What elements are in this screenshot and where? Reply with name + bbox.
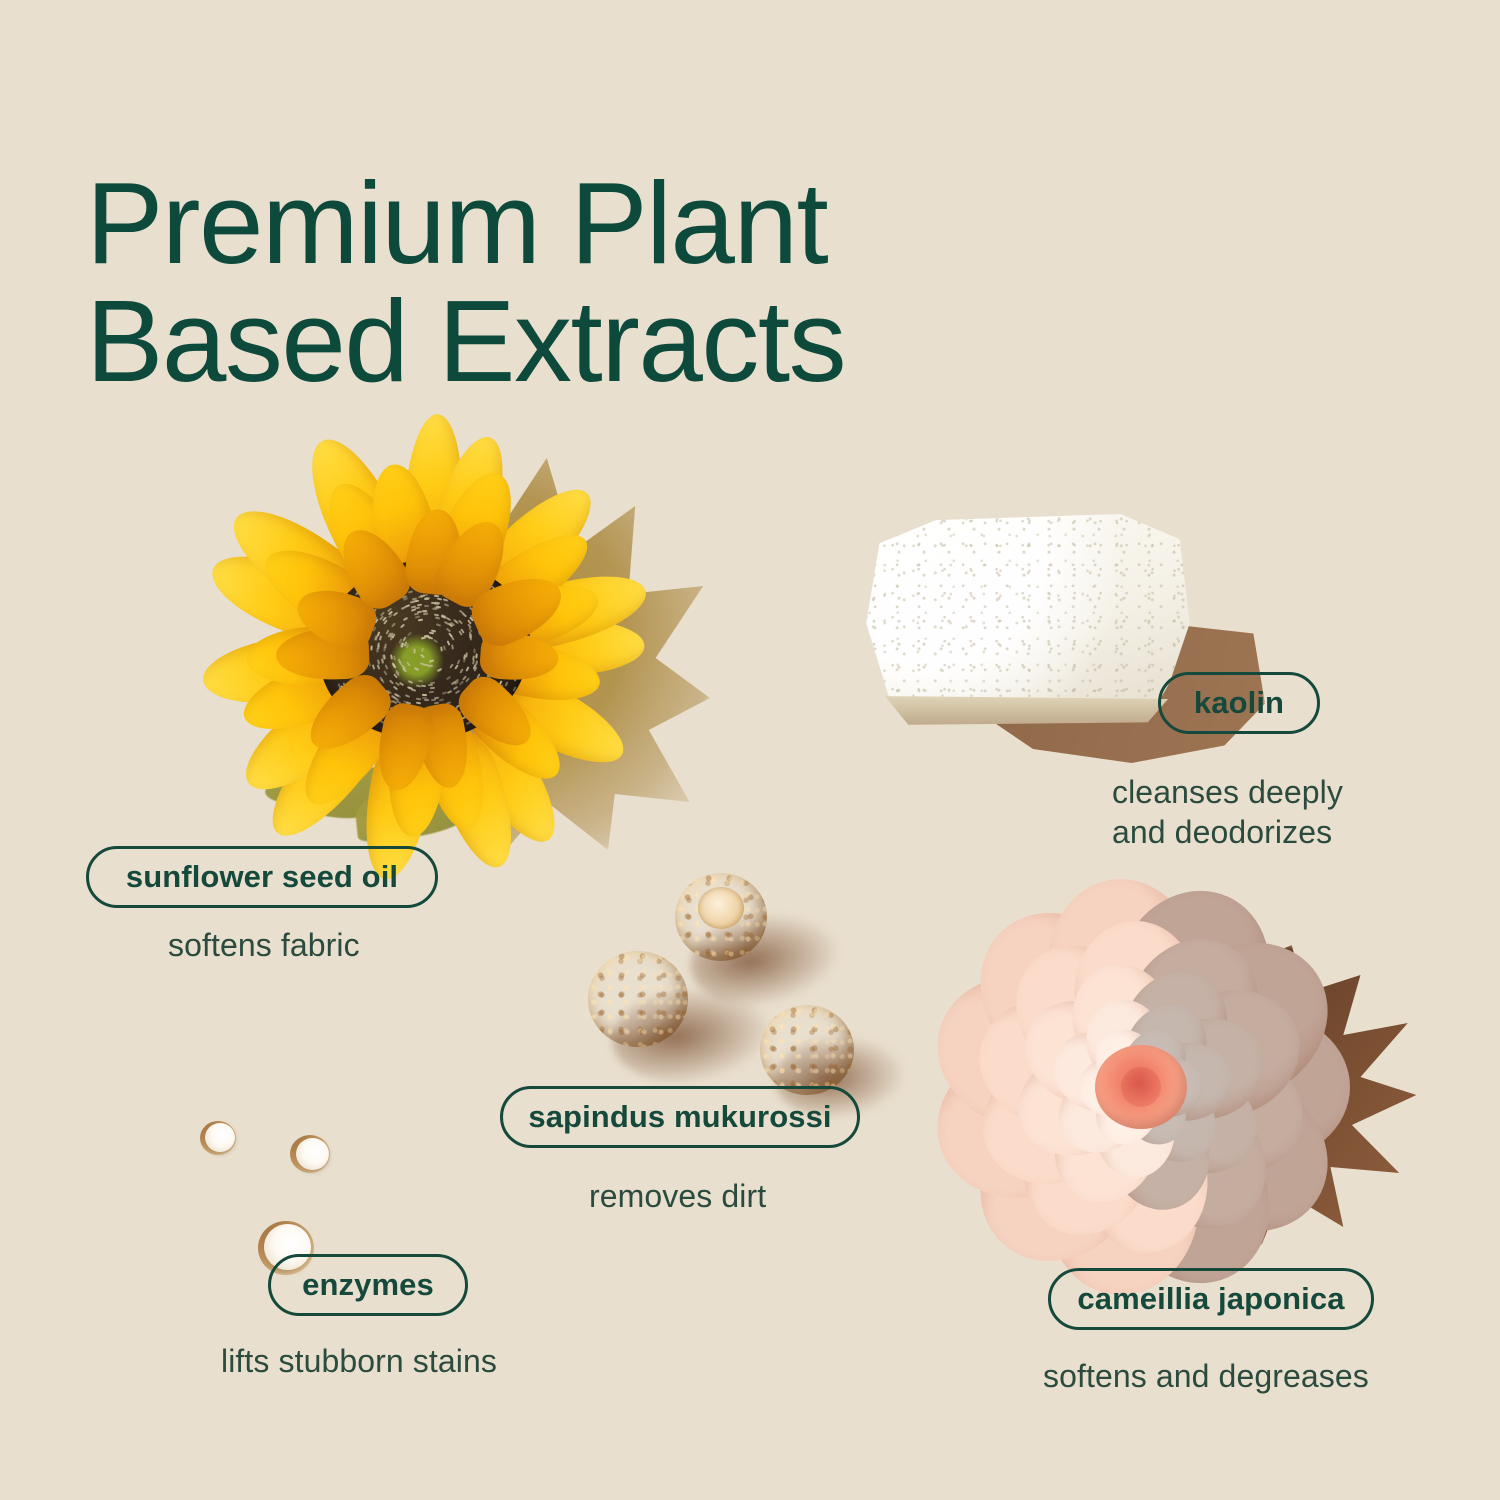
label-pill-sapindus-mukurossi[interactable]: sapindus mukurossi <box>500 1086 860 1148</box>
enzyme-bead <box>205 1123 235 1152</box>
soapberry <box>588 951 688 1047</box>
product-ingredients-infographic: Premium Plant Based Extracts <box>0 0 1500 1500</box>
soapberry <box>760 1005 854 1095</box>
kaolin-rock-body <box>863 514 1193 724</box>
kaolin-rock-base <box>879 696 1171 726</box>
caption-cameillia-japonica: softens and degreases <box>1043 1356 1463 1396</box>
caption-sunflower-seed-oil: softens fabric <box>168 925 588 965</box>
caption-enzymes: lifts stubborn stains <box>221 1341 641 1381</box>
sunflower-photo <box>180 410 700 880</box>
label-pill-enzymes[interactable]: enzymes <box>268 1254 468 1316</box>
kaolin-clay-rock-photo <box>855 500 1275 790</box>
camellia-center <box>1095 1045 1187 1129</box>
enzyme-bead <box>296 1138 329 1170</box>
soapberry-seed-scar <box>698 887 744 929</box>
page-title: Premium Plant Based Extracts <box>86 164 1086 400</box>
camellia-flower-photo <box>955 905 1415 1305</box>
label-pill-cameillia-japonica[interactable]: cameillia japonica <box>1048 1268 1374 1330</box>
caption-kaolin: cleanses deeply and deodorizes <box>1112 772 1442 852</box>
label-pill-sunflower-seed-oil[interactable]: sunflower seed oil <box>86 846 438 908</box>
label-pill-kaolin[interactable]: kaolin <box>1158 672 1320 734</box>
soapberries-photo <box>570 865 890 1115</box>
caption-sapindus-mukurossi: removes dirt <box>589 1176 949 1216</box>
